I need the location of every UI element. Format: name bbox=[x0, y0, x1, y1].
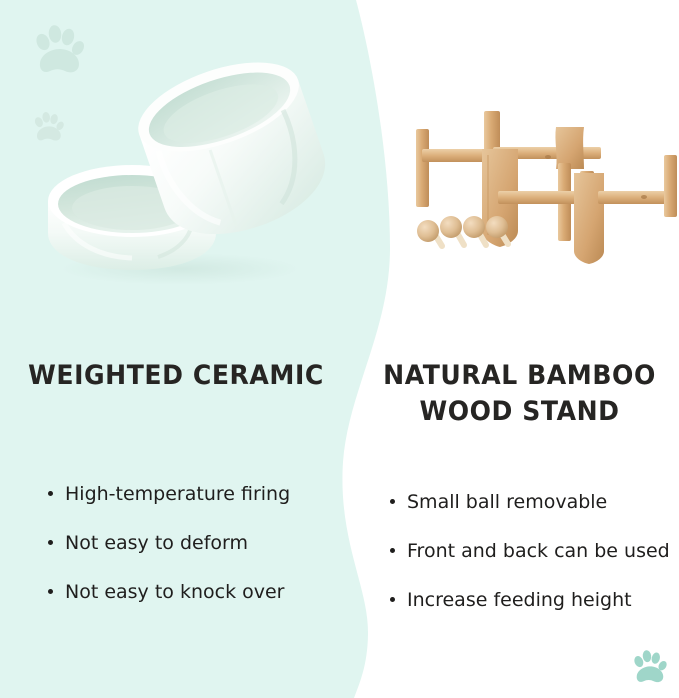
bullet-dot-icon bbox=[48, 491, 53, 496]
bullet-dot-icon bbox=[390, 548, 395, 553]
infographic-page: WEIGHTED CERAMIC High-temperature firing… bbox=[0, 0, 679, 698]
list-item: Increase feeding height bbox=[388, 588, 679, 612]
paw-print-icon bbox=[31, 110, 65, 144]
left-panel-content: WEIGHTED CERAMIC High-temperature firing… bbox=[0, 358, 352, 629]
right-feature-list: Small ball removable Front and back can … bbox=[388, 490, 679, 612]
list-item-label: Not easy to deform bbox=[65, 532, 248, 554]
bullet-dot-icon bbox=[390, 499, 395, 504]
ceramic-bowls-image bbox=[30, 55, 360, 290]
list-item-label: Small ball removable bbox=[407, 491, 607, 513]
paw-print-icon bbox=[630, 648, 668, 686]
left-panel-heading: WEIGHTED CERAMIC bbox=[12, 358, 339, 394]
paw-print-icon bbox=[30, 22, 86, 78]
right-panel-heading: NATURAL BAMBOO WOOD STAND bbox=[371, 358, 668, 430]
list-item-label: Front and back can be used bbox=[407, 540, 670, 562]
list-item: Not easy to deform bbox=[46, 531, 352, 555]
list-item: Small ball removable bbox=[388, 490, 679, 514]
bullet-dot-icon bbox=[390, 597, 395, 602]
list-item-label: High-temperature firing bbox=[65, 483, 290, 505]
bullet-dot-icon bbox=[48, 589, 53, 594]
list-item: Front and back can be used bbox=[388, 539, 679, 563]
list-item: High-temperature firing bbox=[46, 482, 352, 506]
list-item: Not easy to knock over bbox=[46, 580, 352, 604]
right-panel-content: NATURAL BAMBOO WOOD STAND Small ball rem… bbox=[360, 358, 679, 637]
list-item-label: Not easy to knock over bbox=[65, 581, 284, 603]
list-item-label: Increase feeding height bbox=[407, 589, 632, 611]
left-feature-list: High-temperature firing Not easy to defo… bbox=[46, 482, 352, 604]
bamboo-stand-image bbox=[398, 105, 679, 280]
bullet-dot-icon bbox=[48, 540, 53, 545]
